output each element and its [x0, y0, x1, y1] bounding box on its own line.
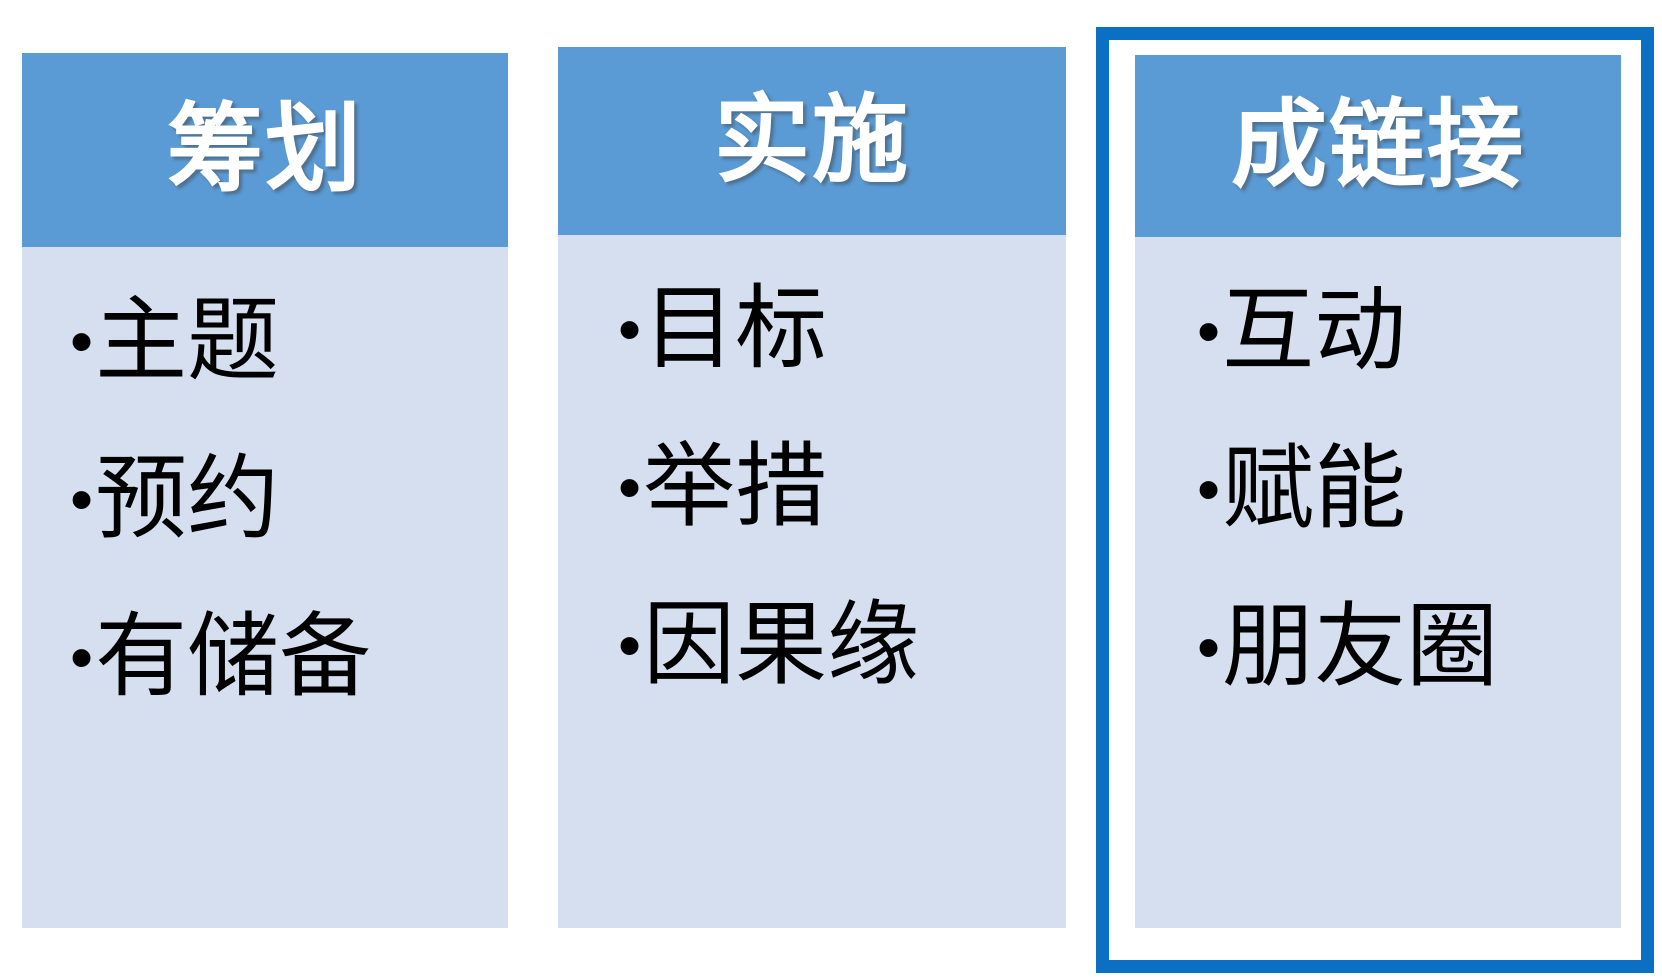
list-item[interactable]: • 主题	[22, 295, 508, 387]
bullet-icon: •	[70, 466, 93, 532]
list-item[interactable]: • 因果缘	[558, 599, 1066, 691]
bullet-icon: •	[1197, 614, 1220, 680]
column-header-shishi: 实施	[558, 47, 1066, 235]
bullet-icon: •	[70, 308, 93, 374]
column-chenglianjie[interactable]: 成链接 • 互动 • 赋能 • 朋友圈	[1135, 55, 1621, 928]
column-body-shishi: • 目标 • 举措 • 因果缘	[558, 235, 1066, 928]
bullet-icon: •	[70, 624, 93, 690]
column-header-chouhua: 筹划	[22, 53, 508, 247]
column-header-chenglianjie: 成链接	[1135, 55, 1621, 237]
list-item[interactable]: • 赋能	[1135, 443, 1621, 535]
column-chouhua[interactable]: 筹划 • 主题 • 预约 • 有储备	[22, 53, 508, 928]
bullet-icon: •	[618, 296, 641, 362]
column-body-chenglianjie: • 互动 • 赋能 • 朋友圈	[1135, 237, 1621, 928]
bullet-icon: •	[618, 454, 641, 520]
slide-canvas: 筹划 • 主题 • 预约 • 有储备 实施 • 目标	[0, 0, 1662, 978]
list-item[interactable]: • 有储备	[22, 611, 508, 703]
column-header-label: 筹划	[167, 102, 363, 198]
column-body-chouhua: • 主题 • 预约 • 有储备	[22, 247, 508, 928]
list-item[interactable]: • 互动	[1135, 285, 1621, 377]
bullet-icon: •	[1197, 298, 1220, 364]
list-item-label: 朋友圈	[1222, 601, 1498, 693]
list-item-label: 举措	[643, 441, 827, 533]
column-header-label: 成链接	[1231, 98, 1525, 194]
list-item-label: 目标	[643, 283, 827, 375]
list-item-label: 因果缘	[643, 599, 919, 691]
list-item-label: 主题	[95, 295, 279, 387]
list-item[interactable]: • 朋友圈	[1135, 601, 1621, 693]
list-item-label: 互动	[1222, 285, 1406, 377]
bullet-icon: •	[1197, 456, 1220, 522]
list-item[interactable]: • 目标	[558, 283, 1066, 375]
column-shishi[interactable]: 实施 • 目标 • 举措 • 因果缘	[558, 47, 1066, 928]
bullet-icon: •	[618, 612, 641, 678]
list-item-label: 赋能	[1222, 443, 1406, 535]
list-item[interactable]: • 预约	[22, 453, 508, 545]
column-header-label: 实施	[714, 93, 910, 189]
list-item[interactable]: • 举措	[558, 441, 1066, 533]
list-item-label: 预约	[95, 453, 279, 545]
list-item-label: 有储备	[95, 611, 371, 703]
